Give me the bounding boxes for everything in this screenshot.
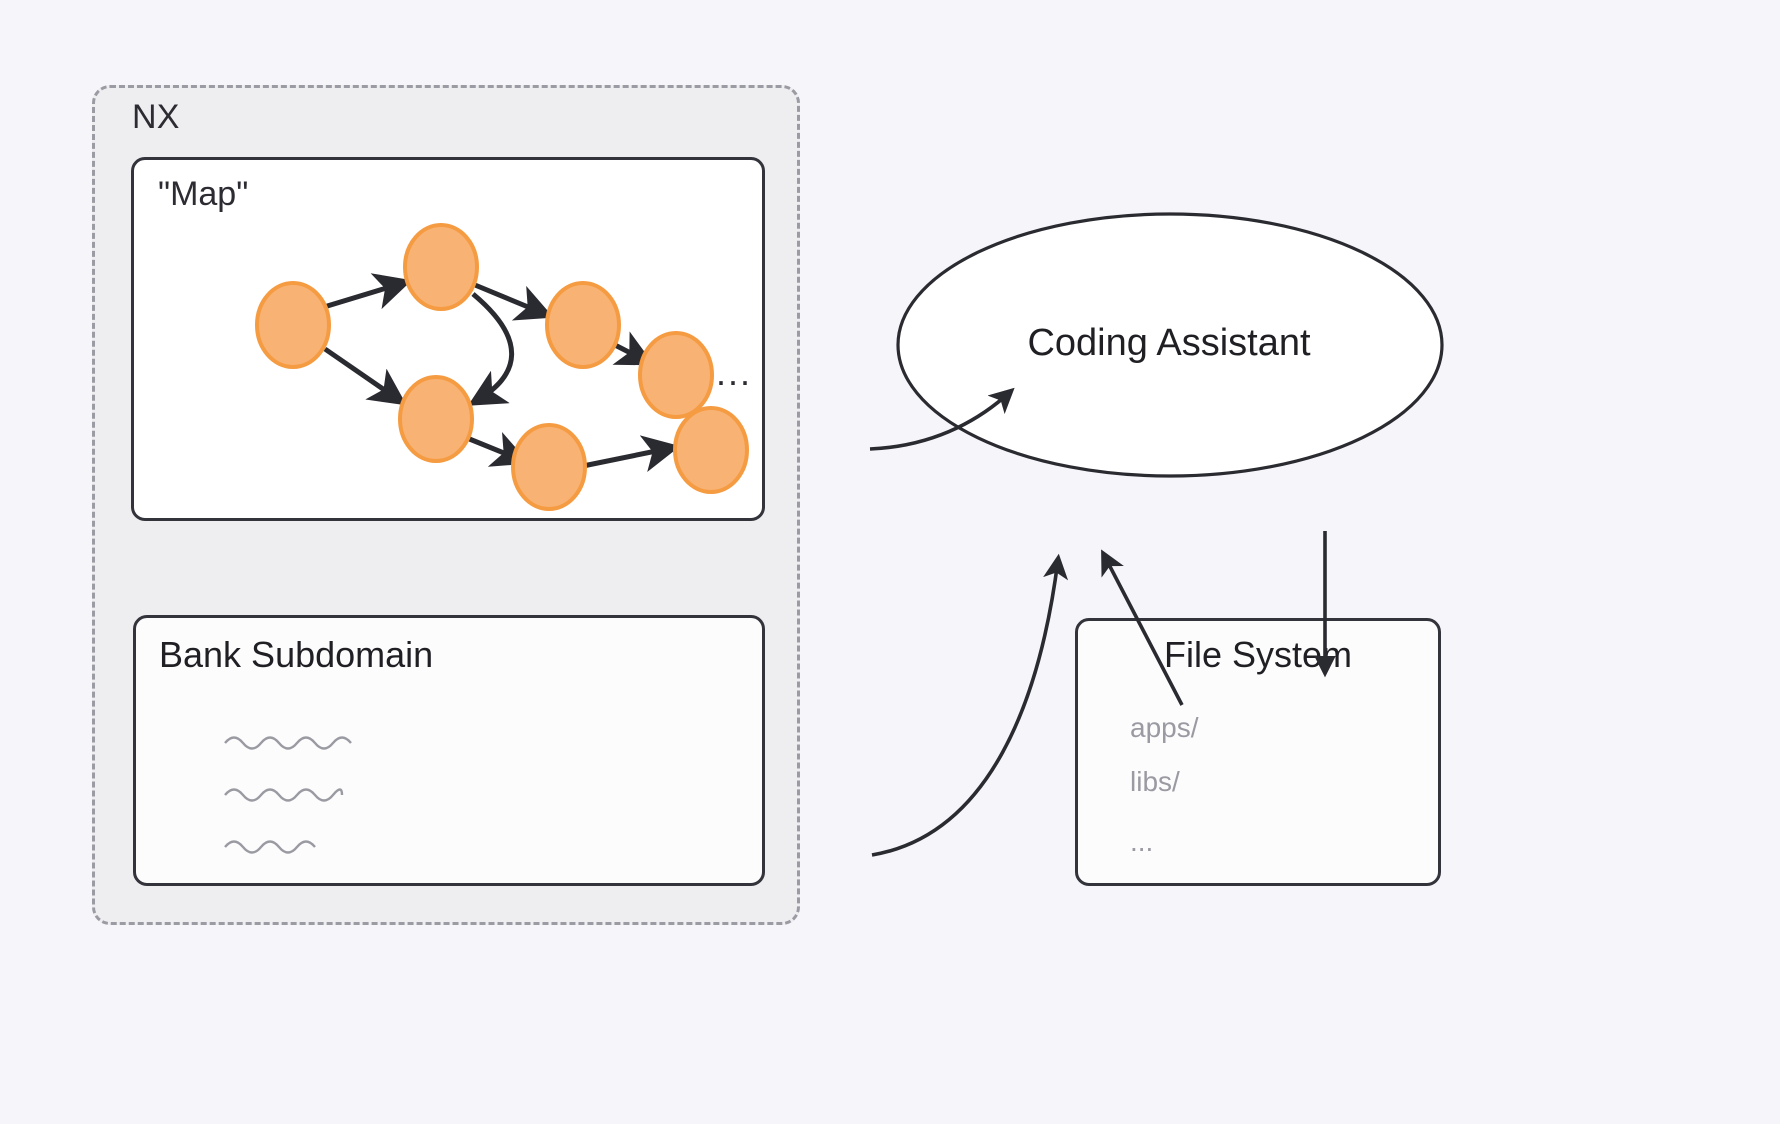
squiggle-line xyxy=(225,738,351,749)
graph-node xyxy=(257,283,329,367)
graph-node xyxy=(405,225,477,309)
file-system-entry: apps/ xyxy=(1130,712,1199,744)
graph-nodes xyxy=(257,225,747,509)
graph-node xyxy=(547,283,619,367)
dependency-graph xyxy=(131,157,765,521)
graph-node xyxy=(400,377,472,461)
squiggle-line xyxy=(225,842,315,853)
diagram-canvas: NX "Map" ... xyxy=(0,0,1780,1124)
file-system-entry: ... xyxy=(1130,826,1153,858)
arrow-bank-to-assistant xyxy=(872,560,1058,855)
file-system-entry: libs/ xyxy=(1130,766,1180,798)
file-system-title: File System xyxy=(1075,634,1441,676)
graph-ellipsis: ... xyxy=(716,355,752,391)
nx-label: NX xyxy=(132,98,180,137)
coding-assistant-label: Coding Assistant xyxy=(895,322,1443,365)
graph-edge-n2-n5 xyxy=(473,294,512,401)
graph-node xyxy=(640,333,712,417)
graph-node xyxy=(513,425,585,509)
graph-edge-n1-n5 xyxy=(325,349,399,400)
graph-edge-n6-n7 xyxy=(583,448,671,466)
squiggle-line xyxy=(225,790,342,801)
graph-edge-n2-n3 xyxy=(475,285,545,314)
placeholder-text-squiggles xyxy=(133,615,765,886)
graph-edge-n1-n2 xyxy=(324,283,403,307)
graph-node xyxy=(675,408,747,492)
